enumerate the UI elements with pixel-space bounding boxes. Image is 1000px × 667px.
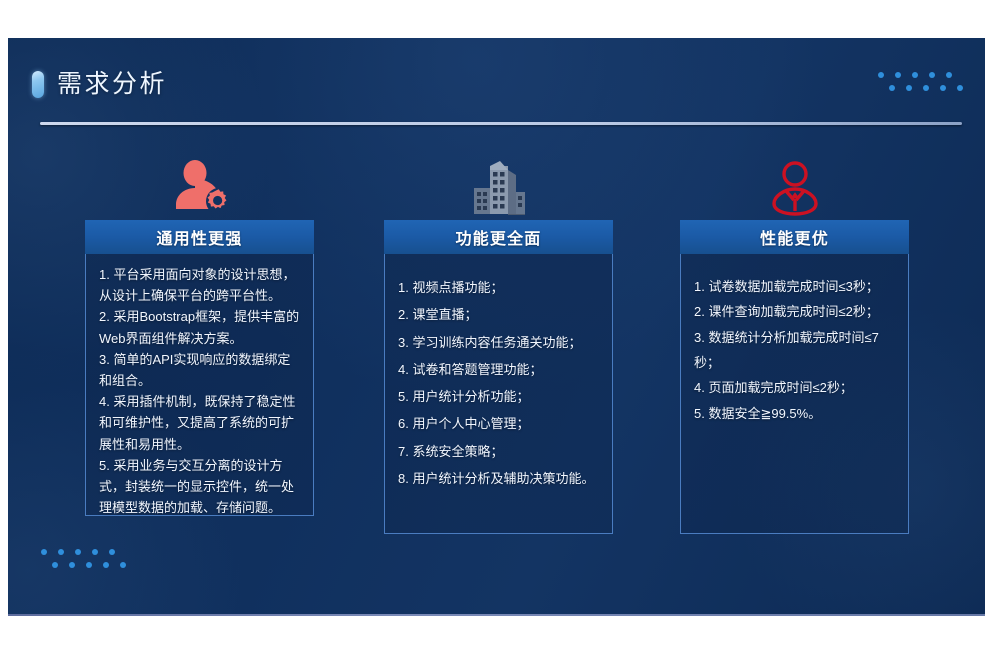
card-line: 1. 视频点播功能； [398,274,599,301]
feature-card-performance: 性能更优 1. 试卷数据加载完成时间≤3秒； 2. 课件查询加载完成时间≤2秒；… [680,220,909,534]
card-line: 2. 采用Bootstrap框架，提供丰富的Web界面组件解决方案。 [99,306,300,348]
card-line: 5. 数据安全≧99.5%。 [694,401,895,426]
office-buildings-icon [384,158,613,216]
card-heading: 通用性更强 [85,220,314,254]
card-line: 6. 用户个人中心管理； [398,410,599,437]
card-line: 4. 页面加载完成时间≤2秒； [694,375,895,400]
card-heading: 性能更优 [680,220,909,254]
card-line: 3. 数据统计分析加载完成时间≤7秒； [694,325,895,376]
user-settings-icon [85,158,314,216]
card-line: 4. 试卷和答题管理功能； [398,356,599,383]
card-line: 5. 采用业务与交互分离的设计方式，封装统一的显示控件，统一处理模型数据的加载、… [99,455,300,519]
slide-canvas: 需求分析 [8,38,985,616]
card-line: 7. 系统安全策略； [398,438,599,465]
card-line: 3. 学习训练内容任务通关功能； [398,329,599,356]
card-body: 1. 平台采用面向对象的设计思想，从设计上确保平台的跨平台性。 2. 采用Boo… [85,254,314,516]
card-body: 1. 视频点播功能； 2. 课堂直播； 3. 学习训练内容任务通关功能； 4. … [384,254,613,534]
card-line: 1. 试卷数据加载完成时间≤3秒； [694,274,895,299]
card-line: 2. 课堂直播； [398,301,599,328]
card-line: 3. 简单的API实现响应的数据绑定和组合。 [99,349,300,391]
card-line: 1. 平台采用面向对象的设计思想，从设计上确保平台的跨平台性。 [99,264,300,306]
feature-card-generality: 通用性更强 1. 平台采用面向对象的设计思想，从设计上确保平台的跨平台性。 2.… [85,220,314,516]
card-line: 8. 用户统计分析及辅助决策功能。 [398,465,599,492]
business-person-outline-icon [680,158,909,216]
card-line: 4. 采用插件机制，既保持了稳定性和可维护性，又提高了系统的可扩展性和易用性。 [99,391,300,455]
feature-card-functionality: 功能更全面 1. 视频点播功能； 2. 课堂直播； 3. 学习训练内容任务通关功… [384,220,613,534]
card-heading: 功能更全面 [384,220,613,254]
feature-card-group: 通用性更强 1. 平台采用面向对象的设计思想，从设计上确保平台的跨平台性。 2.… [8,38,985,616]
card-line: 5. 用户统计分析功能； [398,383,599,410]
card-line: 2. 课件查询加载完成时间≤2秒； [694,299,895,324]
card-body: 1. 试卷数据加载完成时间≤3秒； 2. 课件查询加载完成时间≤2秒； 3. 数… [680,254,909,534]
